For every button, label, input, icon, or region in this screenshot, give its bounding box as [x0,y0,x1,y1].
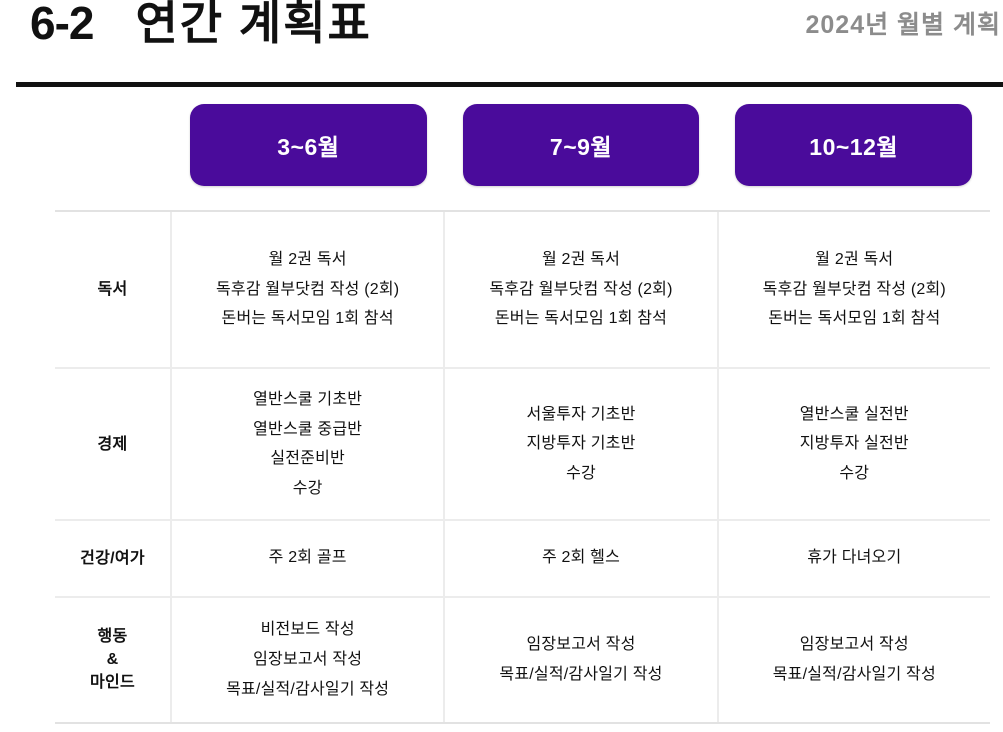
table-row-mind: 행동 & 마인드 비전보드 작성 임장보고서 작성 목표/실적/감사일기 작성 … [55,598,990,723]
quarter-header-cell-3: 10~12월 [717,96,990,188]
annual-plan-table: 독서 월 2권 독서 독후감 월부닷컴 작성 (2회) 돈버는 독서모임 1회 … [55,210,990,724]
page-title-number: 6-2 [30,0,93,46]
row-label-mind: 행동 & 마인드 [55,598,172,723]
quarter-header-cell-2: 7~9월 [445,96,718,188]
page-header: 6-2 연간 계획표 2024년 월별 계획 [0,0,1003,96]
row-label-reading: 독서 [55,212,172,367]
cell-reading-q3[interactable]: 월 2권 독서 독후감 월부닷컴 작성 (2회) 돈버는 독서모임 1회 참석 [719,212,990,367]
cell-mind-q1[interactable]: 비전보드 작성 임장보고서 작성 목표/실적/감사일기 작성 [172,598,445,723]
quarter-header-spacer [55,96,172,188]
table-row-health: 건강/여가 주 2회 골프 주 2회 헬스 휴가 다녀오기 [55,521,990,598]
cell-mind-q3[interactable]: 임장보고서 작성 목표/실적/감사일기 작성 [719,598,990,723]
table-row-economy: 경제 열반스쿨 기초반 열반스쿨 중급반 실전준비반 수강 서울투자 기초반 지… [55,369,990,520]
cell-reading-q2[interactable]: 월 2권 독서 독후감 월부닷컴 작성 (2회) 돈버는 독서모임 1회 참석 [445,212,718,367]
cell-reading-q1[interactable]: 월 2권 독서 독후감 월부닷컴 작성 (2회) 돈버는 독서모임 1회 참석 [172,212,445,367]
row-label-economy: 경제 [55,369,172,518]
cell-health-q3[interactable]: 휴가 다녀오기 [719,521,990,596]
header-title-row: 6-2 연간 계획표 2024년 월별 계획 [0,0,1003,88]
cell-health-q2[interactable]: 주 2회 헬스 [445,521,718,596]
table-row-reading: 독서 월 2권 독서 독후감 월부닷컴 작성 (2회) 돈버는 독서모임 1회 … [55,212,990,369]
cell-health-q1[interactable]: 주 2회 골프 [172,521,445,596]
page-title: 연간 계획표 [135,0,371,46]
cell-mind-q2[interactable]: 임장보고서 작성 목표/실적/감사일기 작성 [445,598,718,723]
cell-economy-q3[interactable]: 열반스쿨 실전반 지방투자 실전반 수강 [719,369,990,518]
cell-economy-q1[interactable]: 열반스쿨 기초반 열반스쿨 중급반 실전준비반 수강 [172,369,445,518]
row-label-health: 건강/여가 [55,521,172,596]
quarter-header-q2[interactable]: 7~9월 [463,104,700,186]
quarter-header-q3[interactable]: 10~12월 [735,104,972,186]
header-divider-rule [16,82,1003,87]
quarter-header-cell-1: 3~6월 [172,96,445,188]
quarter-header-bar: 3~6월 7~9월 10~12월 [0,96,1003,188]
quarter-header-q1[interactable]: 3~6월 [190,104,427,186]
cell-economy-q2[interactable]: 서울투자 기초반 지방투자 기초반 수강 [445,369,718,518]
page-subtitle: 2024년 월별 계획 [805,13,1003,38]
